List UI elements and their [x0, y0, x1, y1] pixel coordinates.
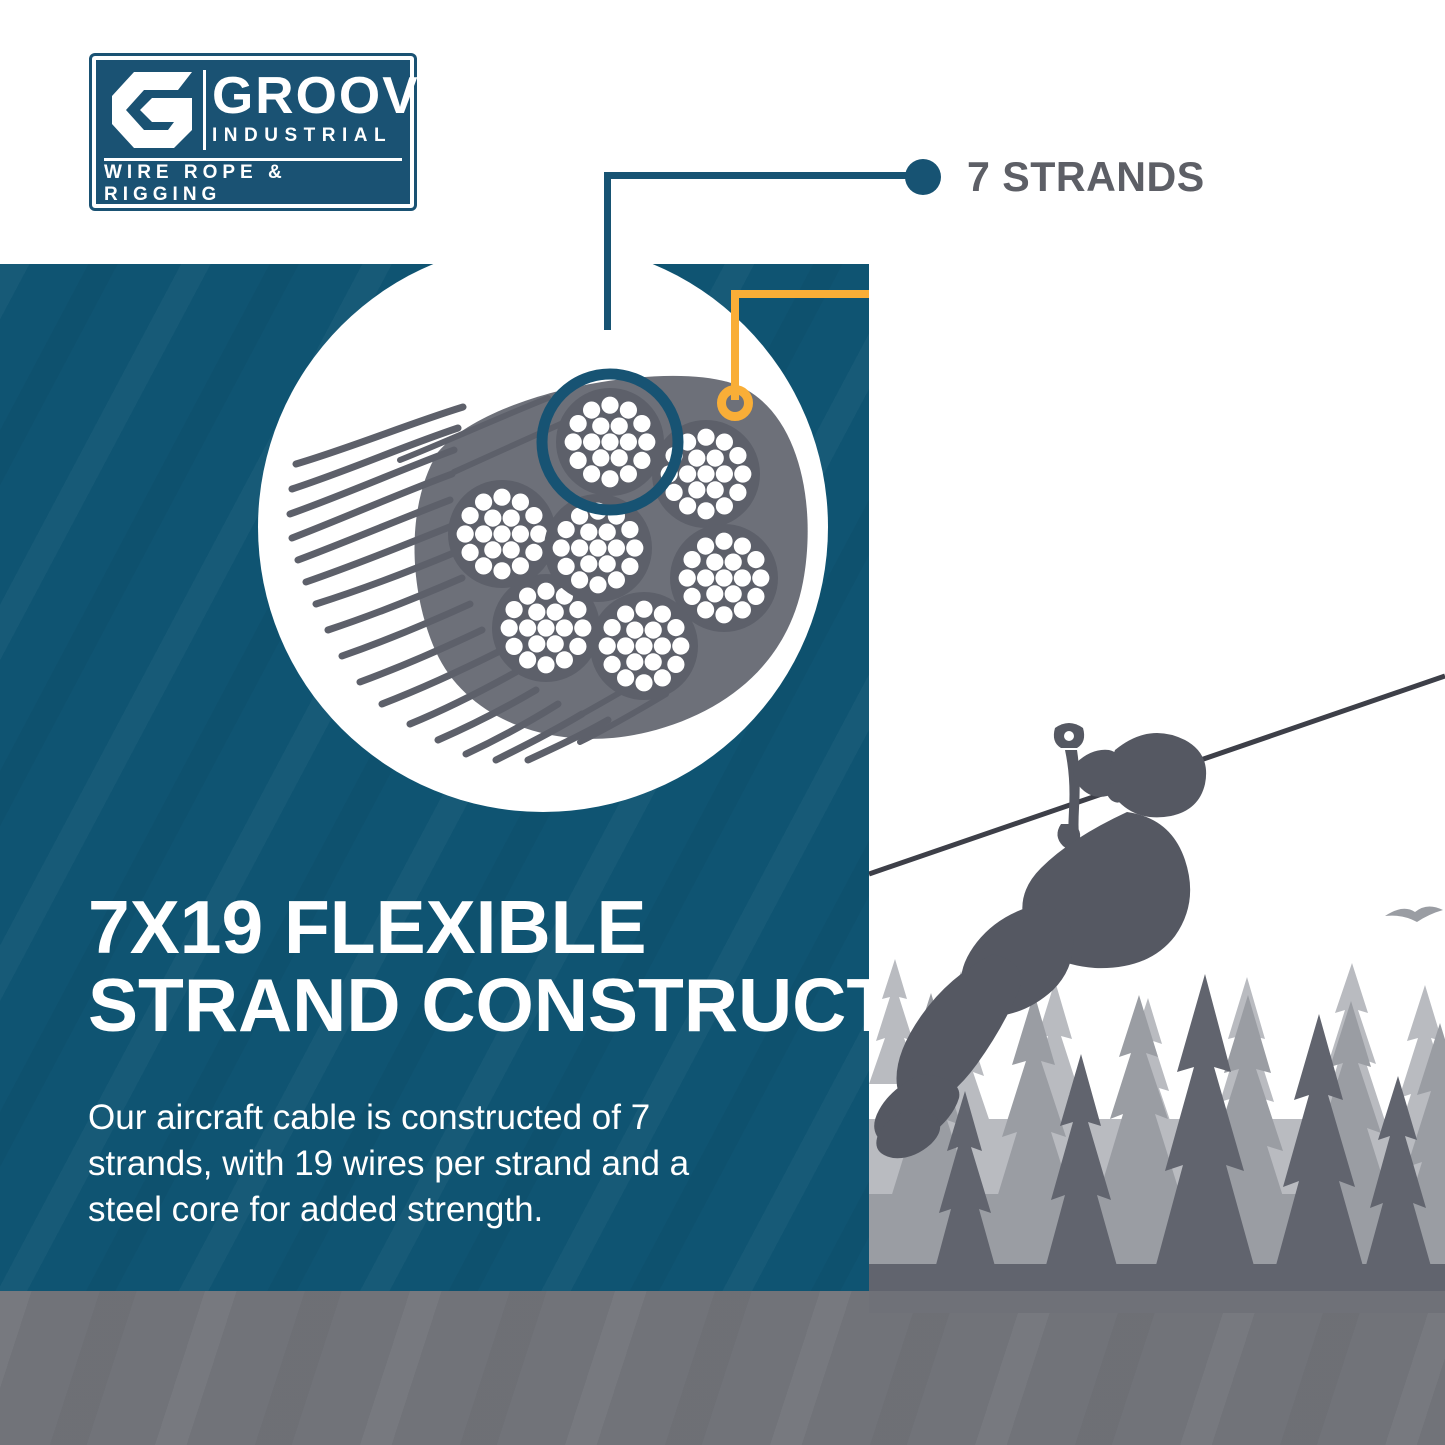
callout-dot-icon	[905, 159, 941, 195]
logo-top-row: GROOVE INDUSTRIAL	[104, 68, 402, 152]
page-title: 7X19 FLEXIBLE STRAND CONSTRUCTION	[88, 888, 848, 1044]
callout-strands: 7 STRANDS	[905, 153, 1210, 201]
logo-inner: GROOVE INDUSTRIAL WIRE ROPE & RIGGING	[104, 68, 402, 196]
zipline-photo	[869, 264, 1445, 1291]
wire-rope-illustration	[258, 242, 828, 812]
leader-line-wires-vertical	[731, 290, 739, 400]
groove-g-mark-icon	[104, 68, 200, 152]
callout-label-strands: 7 STRANDS	[967, 153, 1205, 201]
infographic-canvas: GROOVE INDUSTRIAL WIRE ROPE & RIGGING	[0, 0, 1445, 1445]
brand-logo: GROOVE INDUSTRIAL WIRE ROPE & RIGGING	[92, 56, 414, 208]
leader-line-strands-horizontal	[604, 172, 914, 179]
logo-name: GROOVE	[212, 70, 406, 122]
logo-subname: INDUSTRIAL	[212, 124, 402, 148]
footer-texture	[0, 1291, 1445, 1445]
single-wire-highlight-ring-icon	[717, 385, 753, 421]
logo-wordmark: GROOVE INDUSTRIAL	[212, 70, 402, 152]
logo-rule	[104, 158, 402, 161]
footer-band	[0, 1291, 1445, 1445]
headline-line-2: STRAND CONSTRUCTION	[88, 966, 848, 1044]
logo-divider	[203, 70, 206, 150]
leader-line-strands-vertical	[604, 172, 611, 330]
body-description: Our aircraft cable is constructed of 7 s…	[88, 1095, 748, 1233]
headline-line-1: 7X19 FLEXIBLE	[88, 888, 848, 966]
logo-tagline: WIRE ROPE & RIGGING	[104, 166, 402, 202]
footer-band-right-extension	[869, 1291, 1445, 1313]
